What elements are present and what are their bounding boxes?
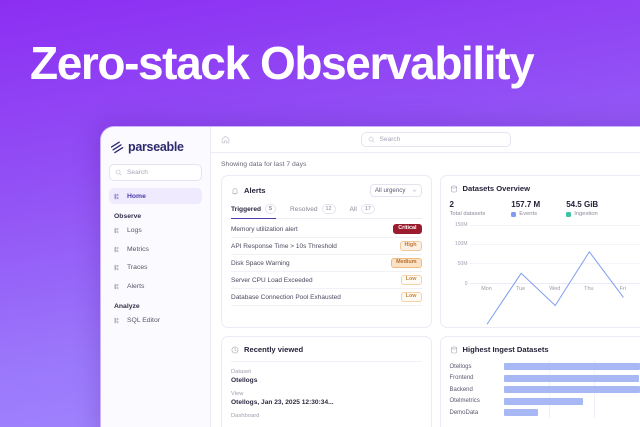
- x-tick-label: Fri: [606, 286, 640, 292]
- stat-label: Ingestion: [566, 211, 598, 217]
- stat-value: 54.5 GiB: [566, 200, 598, 209]
- x-tick-label: Mon: [470, 286, 504, 292]
- datasets-card-title: Datasets Overview: [463, 184, 531, 193]
- ingestion-legend-swatch: [566, 212, 571, 217]
- sidebar-item-home-label: Home: [127, 193, 146, 200]
- bell-icon: [231, 187, 239, 195]
- table-row[interactable]: Otelmetrics: [450, 396, 640, 408]
- hbar-label: DemoData: [450, 410, 498, 416]
- main-content: Search Showing data for last 7 days La A…: [211, 127, 640, 427]
- sidebar-search-placeholder: Search: [127, 169, 148, 176]
- urgency-filter-value: All urgency: [375, 187, 406, 194]
- alerts-card-title: Alerts: [244, 186, 266, 195]
- y-tick: 0: [465, 281, 468, 287]
- database-icon: [450, 346, 458, 354]
- stat-value: 157.7 M: [511, 200, 540, 209]
- highest-ingest-title: Highest Ingest Datasets: [463, 345, 549, 354]
- hbar-track: [504, 386, 640, 393]
- alert-name: Database Connection Pool Exhausted: [231, 294, 341, 301]
- events-legend-swatch: [511, 212, 516, 217]
- sql-editor-icon: [114, 317, 121, 324]
- datasets-card-header: Datasets Overview: [450, 184, 640, 193]
- status-badge: High: [400, 241, 422, 251]
- logs-icon: [114, 227, 121, 234]
- list-item[interactable]: Dashboard: [231, 409, 422, 424]
- x-tick-label: Tue: [504, 286, 538, 292]
- highest-ingest-card: Highest Ingest Datasets OtellogsFrontend…: [440, 336, 640, 427]
- tab-resolved-label: Resolved: [290, 206, 318, 213]
- stat-events: 157.7 M Events: [511, 200, 540, 217]
- hbar-fill: [504, 398, 583, 405]
- showing-data-text: Showing data for last 7 days: [221, 161, 306, 168]
- highest-ingest-title-group: Highest Ingest Datasets: [450, 345, 549, 354]
- alerts-tabs: Triggered 5 Resolved 12 All 17: [231, 204, 422, 219]
- hbar-label: Frontend: [450, 375, 498, 381]
- hbar-fill: [504, 386, 640, 393]
- recently-viewed-title-group: Recently viewed: [231, 345, 303, 354]
- datasets-overview-card: Datasets Overview 2 Total datasets 157.7…: [440, 175, 640, 328]
- table-row[interactable]: Backend: [450, 384, 640, 396]
- recently-viewed-card: Recently viewed Dataset Otellogs View Ot…: [221, 336, 432, 427]
- status-badge: Low: [401, 292, 422, 302]
- search-placeholder: Search: [380, 136, 401, 143]
- stat-value: 2: [450, 200, 486, 209]
- hbar-fill: [504, 375, 639, 382]
- home-icon: [114, 193, 121, 200]
- parseable-logo-icon: [111, 141, 124, 154]
- rv-label: View: [231, 391, 422, 397]
- rv-label: Dataset: [231, 369, 422, 375]
- hbar-track: [504, 375, 640, 382]
- highest-ingest-bars: OtellogsFrontendBackendOtelmetricsDemoDa…: [450, 361, 640, 419]
- alert-name: Memory utilization alert: [231, 226, 298, 233]
- stat-label-text: Ingestion: [574, 211, 598, 217]
- alert-name: Disk Space Warning: [231, 260, 290, 267]
- page-title: Zero-stack Observability: [30, 36, 533, 90]
- y-tick: 50M: [458, 261, 468, 267]
- dashboard-grid: Alerts All urgency Triggered 5: [211, 175, 640, 427]
- table-row[interactable]: Database Connection Pool Exhausted Low: [231, 289, 422, 306]
- brand-logo[interactable]: parseable: [109, 137, 202, 164]
- sidebar: parseable Search Home Observe: [101, 127, 211, 427]
- sidebar-item-alerts[interactable]: Alerts: [109, 278, 202, 294]
- x-tick-label: Thu: [572, 286, 606, 292]
- search-input[interactable]: Search: [361, 132, 511, 147]
- sidebar-item-alerts-label: Alerts: [127, 283, 144, 290]
- chevron-down-icon: [412, 188, 417, 193]
- alerts-card-title-group: Alerts: [231, 186, 266, 195]
- hbar-label: Otellogs: [450, 364, 498, 370]
- sidebar-item-metrics-label: Metrics: [127, 246, 149, 253]
- top-bar: Search: [211, 127, 640, 153]
- sidebar-item-traces[interactable]: Traces: [109, 260, 202, 276]
- sidebar-item-logs-label: Logs: [127, 227, 142, 234]
- stat-ingestion: 54.5 GiB Ingestion: [566, 200, 598, 217]
- tab-resolved-count: 12: [322, 204, 336, 214]
- table-row[interactable]: Frontend: [450, 373, 640, 385]
- rv-value: Otellogs: [231, 377, 422, 384]
- table-row[interactable]: Memory utilization alert Critical: [231, 221, 422, 238]
- recently-viewed-title: Recently viewed: [244, 345, 303, 354]
- x-tick-label: Wed: [538, 286, 572, 292]
- hbar-fill: [504, 409, 538, 416]
- hbar-label: Backend: [450, 387, 498, 393]
- sidebar-item-traces-label: Traces: [127, 264, 148, 271]
- sidebar-group-observe: Observe: [109, 207, 202, 223]
- plot-area: [470, 225, 640, 284]
- table-row[interactable]: Disk Space Warning Medium: [231, 255, 422, 272]
- hbar-track: [504, 398, 640, 405]
- stat-label: Total datasets: [450, 211, 486, 217]
- clock-icon: [231, 346, 239, 354]
- alerts-list: Memory utilization alert Critical API Re…: [231, 221, 422, 306]
- tab-resolved[interactable]: Resolved 12: [290, 204, 336, 214]
- stat-label: Events: [511, 211, 540, 217]
- sidebar-item-sql-editor[interactable]: SQL Editor: [109, 313, 202, 329]
- hbar-track: [504, 409, 640, 416]
- sub-bar: Showing data for last 7 days La: [211, 153, 640, 175]
- hbar-fill: [504, 363, 640, 370]
- table-row[interactable]: Otellogs: [450, 361, 640, 373]
- recently-viewed-header: Recently viewed: [231, 345, 422, 354]
- alerts-card-header: Alerts All urgency: [231, 184, 422, 197]
- status-badge: Critical: [393, 224, 421, 234]
- sidebar-item-logs[interactable]: Logs: [109, 223, 202, 239]
- alerts-card: Alerts All urgency Triggered 5: [221, 175, 432, 328]
- rv-value: Otellogs, Jan 23, 2025 12:30:34...: [231, 399, 422, 406]
- sidebar-item-sql-editor-label: SQL Editor: [127, 317, 160, 324]
- tab-triggered[interactable]: Triggered 5: [231, 204, 276, 214]
- stat-label-text: Total datasets: [450, 211, 486, 217]
- urgency-filter-dropdown[interactable]: All urgency: [370, 184, 422, 197]
- recently-viewed-list: Dataset Otellogs View Otellogs, Jan 23, …: [231, 361, 422, 424]
- search-icon: [115, 169, 122, 176]
- status-badge: Medium: [391, 258, 421, 268]
- search-icon: [368, 136, 375, 143]
- app-window: parseable Search Home Observe: [100, 126, 640, 427]
- stat-total-datasets: 2 Total datasets: [450, 200, 486, 217]
- table-row[interactable]: API Response Time > 10s Threshold High: [231, 238, 422, 255]
- hbar-track: [504, 363, 640, 370]
- database-icon: [450, 185, 458, 193]
- tab-triggered-label: Triggered: [231, 206, 261, 213]
- x-axis: MonTueWedThuFri: [470, 284, 640, 292]
- y-axis: 150M 100M 50M 0: [450, 225, 470, 284]
- tab-all[interactable]: All 17: [350, 204, 375, 214]
- home-icon[interactable]: [221, 135, 230, 144]
- hbar-label: Otelmetrics: [450, 398, 498, 404]
- datasets-bar-chart: 150M 100M 50M 0 MonTueWedThuFri: [450, 225, 640, 295]
- datasets-stats: 2 Total datasets 157.7 M Events 54.5: [450, 200, 640, 217]
- status-badge: Low: [401, 275, 422, 285]
- y-tick: 100M: [455, 241, 468, 247]
- sidebar-item-metrics[interactable]: Metrics: [109, 241, 202, 257]
- sidebar-item-home[interactable]: Home: [109, 188, 202, 204]
- brand-name: parseable: [128, 140, 184, 154]
- table-row[interactable]: DemoData: [450, 407, 640, 419]
- alert-name: API Response Time > 10s Threshold: [231, 243, 337, 250]
- rv-label: Dashboard: [231, 413, 422, 419]
- alerts-icon: [114, 283, 121, 290]
- highest-ingest-header: Highest Ingest Datasets: [450, 345, 640, 354]
- list-item[interactable]: Dataset Otellogs: [231, 365, 422, 387]
- bar-series: [470, 225, 640, 283]
- tab-all-label: All: [350, 206, 357, 213]
- tab-all-count: 17: [361, 204, 375, 214]
- sidebar-group-analyze: Analyze: [109, 297, 202, 313]
- sidebar-search-input[interactable]: Search: [109, 164, 202, 181]
- metrics-icon: [114, 246, 121, 253]
- list-item[interactable]: View Otellogs, Jan 23, 2025 12:30:34...: [231, 387, 422, 409]
- table-row[interactable]: Server CPU Load Exceeded Low: [231, 272, 422, 289]
- traces-icon: [114, 264, 121, 271]
- stat-label-text: Events: [519, 211, 537, 217]
- tab-triggered-count: 5: [265, 204, 276, 214]
- datasets-card-title-group: Datasets Overview: [450, 184, 531, 193]
- y-tick: 150M: [455, 222, 468, 228]
- alert-name: Server CPU Load Exceeded: [231, 277, 313, 284]
